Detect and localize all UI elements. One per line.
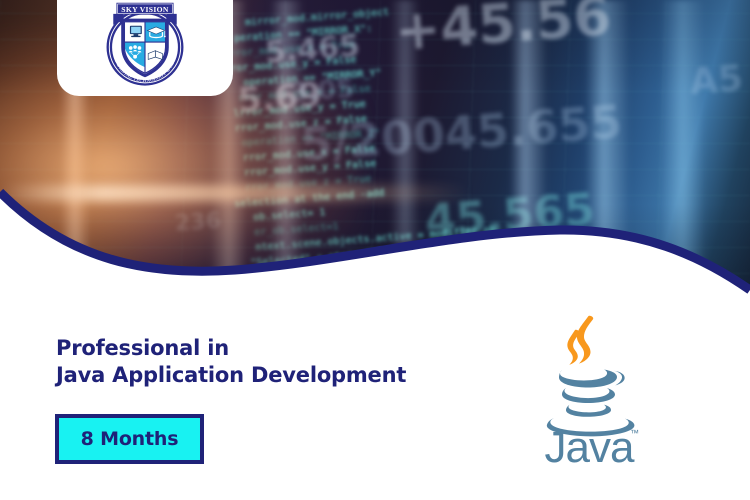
duration-badge: 8 Months bbox=[55, 414, 204, 464]
course-title: Professional in Java Application Develop… bbox=[56, 335, 406, 389]
duration-badge-label: 8 Months bbox=[81, 428, 179, 450]
java-steam-icon bbox=[567, 316, 593, 365]
course-promo-card: mirror_mod.mirror_object peration == "MI… bbox=[0, 0, 750, 500]
java-logo: Java ™ bbox=[530, 314, 648, 464]
java-trademark-icon: ™ bbox=[630, 428, 639, 438]
java-wordmark: Java bbox=[545, 423, 635, 464]
course-title-line-1: Professional in bbox=[56, 335, 406, 362]
logo-panel: COLLEGE OF DIGITAL TECHNOLOGY & MANAGEME… bbox=[57, 0, 233, 96]
logo-ribbon-text: SKY VISION bbox=[121, 5, 169, 14]
course-title-line-2: Java Application Development bbox=[56, 362, 406, 389]
sky-vision-logo: COLLEGE OF DIGITAL TECHNOLOGY & MANAGEME… bbox=[97, 0, 193, 90]
content-area: Professional in Java Application Develop… bbox=[0, 300, 750, 500]
